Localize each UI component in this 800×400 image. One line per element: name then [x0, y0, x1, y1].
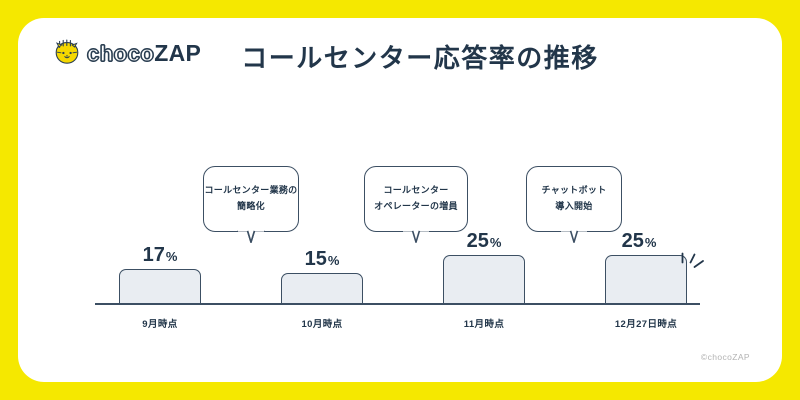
callout-text-1: コールセンター業務の 簡略化	[204, 183, 297, 215]
slide-canvas: chocoZAP コールセンター応答率の推移 コールセンター業務の 簡略化 コー…	[0, 0, 800, 400]
callout-text-3: チャットボット 導入開始	[541, 183, 606, 215]
bar-label-1: 10月時点	[261, 316, 383, 330]
bar-1	[281, 273, 363, 303]
callout-tail-icon-2	[403, 230, 429, 244]
bar-value-unit-2: %	[490, 235, 502, 250]
callout-bubble-2: コールセンター オペレーターの増員	[364, 166, 468, 232]
callout-tail-icon-3	[561, 230, 587, 244]
bar-value-number-3: 25	[622, 230, 644, 252]
bar-value-3: 25%	[598, 230, 680, 253]
bar-value-2: 25%	[443, 230, 525, 253]
bar-value-number-1: 15	[305, 248, 327, 270]
callout-text-2: コールセンター オペレーターの増員	[374, 183, 458, 215]
bar-value-number-2: 25	[467, 230, 489, 252]
bar-2	[443, 255, 525, 303]
callout-tail-icon-1	[238, 230, 264, 244]
chart-baseline-axis	[95, 303, 700, 305]
bar-value-0: 17%	[119, 244, 201, 267]
bar-value-unit-0: %	[166, 249, 178, 264]
bar-value-unit-3: %	[645, 235, 657, 250]
bar-0	[119, 269, 201, 303]
bar-label-2: 11月時点	[423, 316, 545, 330]
bar-value-unit-1: %	[328, 253, 340, 268]
bar-value-number-0: 17	[143, 244, 165, 266]
callout-bubble-3: チャットボット 導入開始	[526, 166, 622, 232]
callout-bubble-1: コールセンター業務の 簡略化	[203, 166, 299, 232]
footer-credit: ©chocoZAP	[701, 352, 750, 362]
slide-panel: chocoZAP コールセンター応答率の推移 コールセンター業務の 簡略化 コー…	[18, 18, 782, 382]
bar-value-1: 15%	[281, 248, 363, 271]
bar-label-3: 12月27日時点	[585, 316, 707, 330]
sparkle-icon	[675, 250, 711, 280]
bar-label-0: 9月時点	[99, 316, 221, 330]
